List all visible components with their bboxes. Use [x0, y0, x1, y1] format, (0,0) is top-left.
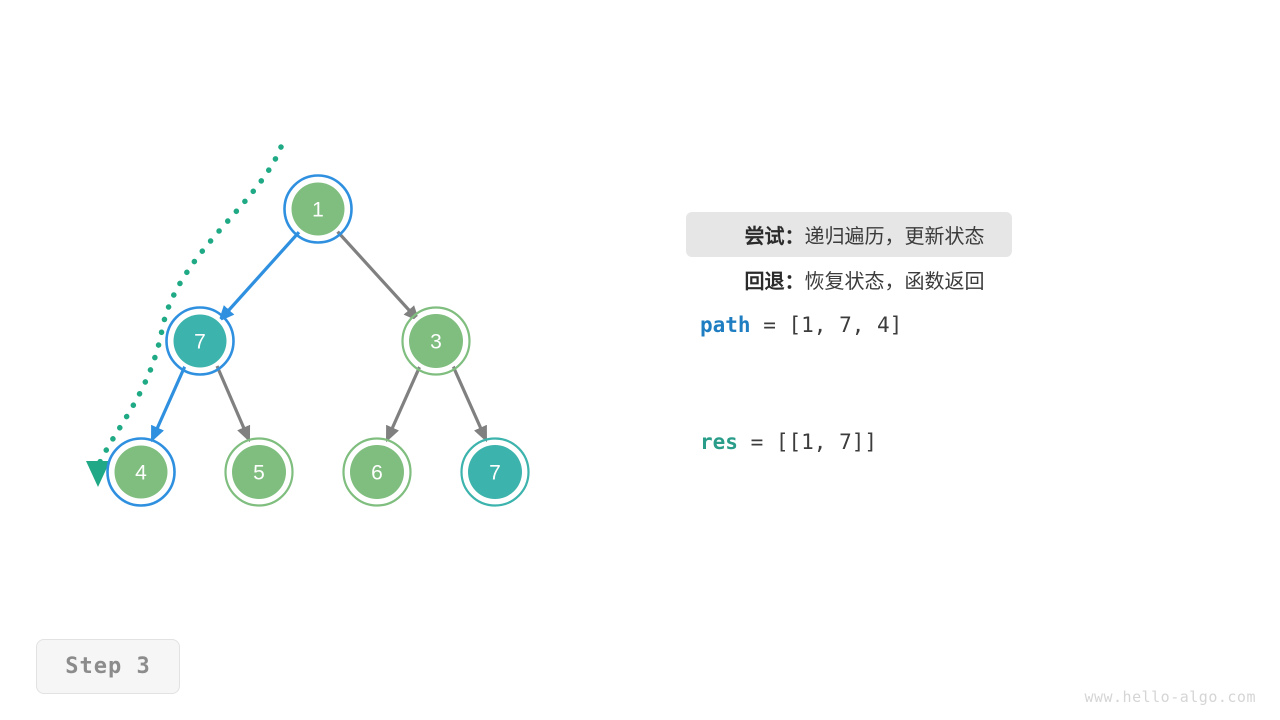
node-3-label: 3 [430, 331, 442, 354]
backtrack-dotted-path [100, 147, 281, 462]
path-expression: path = [1, 7, 4] [700, 313, 902, 337]
info-spacer [686, 347, 1106, 419]
info-row-res: res = [[1, 7]] [686, 419, 1012, 464]
node-4-label: 4 [135, 462, 147, 485]
edge-1-to-3 [337, 231, 418, 320]
info-panel: 尝试：递归遍历，更新状态 回退：恢复状态，函数返回 path = [1, 7, … [686, 212, 1106, 464]
tree-node-6[interactable]: 6 [344, 439, 411, 506]
path-variable-value: = [1, 7, 4] [751, 313, 903, 337]
tree-node-1[interactable]: 1 [285, 176, 352, 243]
edge-7left-to-4 [152, 366, 185, 440]
path-variable-name: path [700, 313, 751, 337]
node-6-label: 6 [371, 462, 383, 485]
edge-3-to-7right [453, 366, 486, 440]
info-backtrack-text: 回退：恢复状态，函数返回 [700, 242, 984, 317]
step-badge-label: Step 3 [65, 654, 150, 679]
info-backtrack-body: 恢复状态，函数返回 [804, 271, 984, 293]
tree-node-3[interactable]: 3 [403, 308, 470, 375]
diagram-canvas: 1 7 3 4 5 [0, 0, 1280, 720]
watermark: www.hello-algo.com [1084, 688, 1256, 706]
tree-node-7-right[interactable]: 7 [462, 439, 529, 506]
res-variable-value: = [[1, 7]] [738, 430, 877, 454]
edge-7left-to-5 [217, 366, 249, 440]
edge-3-to-6 [387, 366, 420, 440]
step-badge: Step 3 [36, 639, 180, 694]
edge-1-to-7left [220, 231, 300, 320]
node-7left-label: 7 [194, 331, 206, 354]
info-backtrack-label: 回退： [744, 271, 804, 293]
node-1-label: 1 [312, 199, 324, 222]
node-5-label: 5 [253, 462, 265, 485]
tree-node-7-left[interactable]: 7 [167, 308, 234, 375]
watermark-text: www.hello-algo.com [1084, 688, 1256, 706]
info-row-backtrack: 回退：恢复状态，函数返回 [686, 257, 1012, 302]
res-expression: res = [[1, 7]] [700, 430, 877, 454]
tree-node-4[interactable]: 4 [108, 439, 175, 506]
tree-node-5[interactable]: 5 [226, 439, 293, 506]
node-7right-label: 7 [489, 462, 501, 485]
res-variable-name: res [700, 430, 738, 454]
